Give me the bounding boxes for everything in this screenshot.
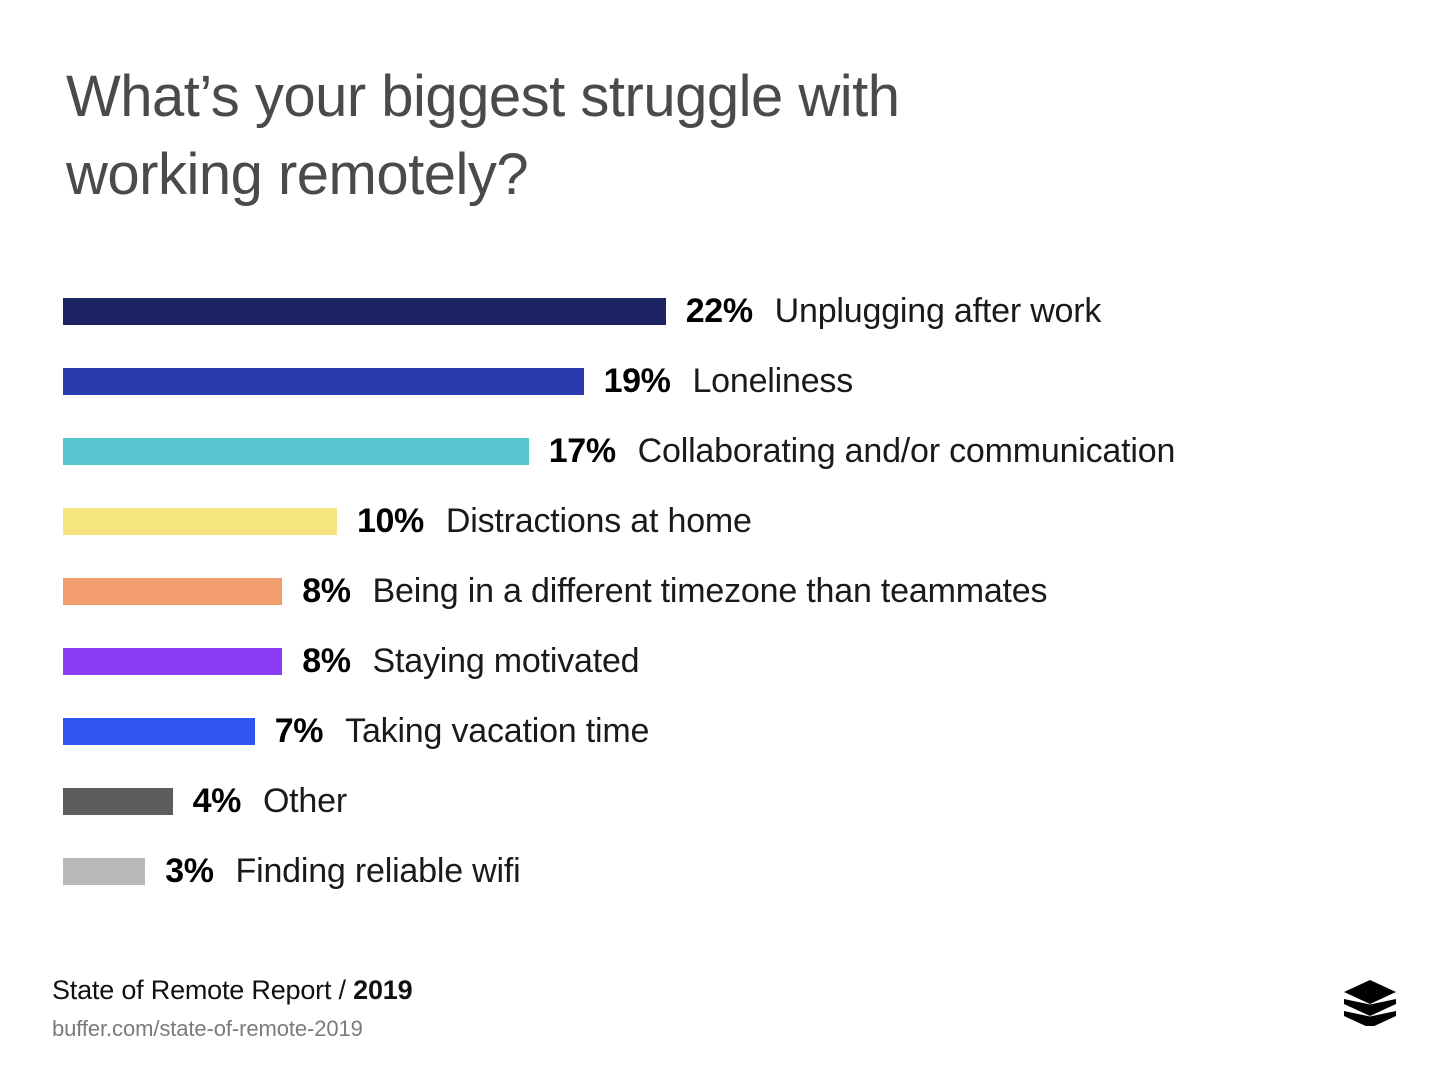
report-name: State of Remote Report / 2019 xyxy=(52,975,412,1006)
report-url: buffer.com/state-of-remote-2019 xyxy=(52,1016,412,1042)
bar-fill xyxy=(63,858,145,885)
infographic-slide: What’s your biggest struggle with workin… xyxy=(0,0,1446,1084)
bar-fill xyxy=(63,438,529,465)
bar-track xyxy=(63,368,584,395)
bar-value-label: 8% xyxy=(302,642,350,681)
bar-category-label: Loneliness xyxy=(692,362,853,401)
bar-value-label: 3% xyxy=(165,852,213,891)
bar-row: 10%Distractions at home xyxy=(63,486,1393,556)
bar-track xyxy=(63,648,282,675)
bar-row: 22%Unplugging after work xyxy=(63,276,1393,346)
bar-row: 3%Finding reliable wifi xyxy=(63,836,1393,906)
bar-category-label: Distractions at home xyxy=(446,502,752,541)
bar-track xyxy=(63,508,337,535)
buffer-logo-icon xyxy=(1342,978,1398,1026)
bar-category-label: Taking vacation time xyxy=(345,712,649,751)
bar-chart: 22%Unplugging after work19%Loneliness17%… xyxy=(63,276,1393,906)
bar-fill xyxy=(63,648,282,675)
bar-row: 7%Taking vacation time xyxy=(63,696,1393,766)
bar-value-label: 8% xyxy=(302,572,350,611)
bar-row: 8%Being in a different timezone than tea… xyxy=(63,556,1393,626)
footer: State of Remote Report / 2019 buffer.com… xyxy=(52,975,412,1042)
bar-row: 8%Staying motivated xyxy=(63,626,1393,696)
bar-value-label: 22% xyxy=(686,292,753,331)
bar-category-label: Finding reliable wifi xyxy=(236,852,521,891)
report-year: 2019 xyxy=(353,975,412,1005)
bar-category-label: Collaborating and/or communication xyxy=(638,432,1176,471)
bar-track xyxy=(63,718,255,745)
bar-value-label: 4% xyxy=(193,782,241,821)
bar-fill xyxy=(63,788,173,815)
bar-category-label: Unplugging after work xyxy=(775,292,1102,331)
bar-track xyxy=(63,788,173,815)
bar-value-label: 17% xyxy=(549,432,616,471)
bar-fill xyxy=(63,508,337,535)
bar-row: 19%Loneliness xyxy=(63,346,1393,416)
bar-category-label: Being in a different timezone than teamm… xyxy=(373,572,1048,611)
bar-row: 17%Collaborating and/or communication xyxy=(63,416,1393,486)
bar-category-label: Other xyxy=(263,782,347,821)
bar-value-label: 10% xyxy=(357,502,424,541)
bar-value-label: 7% xyxy=(275,712,323,751)
bar-fill xyxy=(63,368,584,395)
bar-row: 4%Other xyxy=(63,766,1393,836)
bar-category-label: Staying motivated xyxy=(373,642,640,681)
bar-track xyxy=(63,298,666,325)
bar-track xyxy=(63,858,145,885)
bar-fill xyxy=(63,298,666,325)
page-title: What’s your biggest struggle with workin… xyxy=(66,58,1066,214)
report-name-text: State of Remote Report / xyxy=(52,975,353,1005)
bar-fill xyxy=(63,578,282,605)
bar-value-label: 19% xyxy=(604,362,671,401)
bar-track xyxy=(63,438,529,465)
bar-fill xyxy=(63,718,255,745)
bar-track xyxy=(63,578,282,605)
